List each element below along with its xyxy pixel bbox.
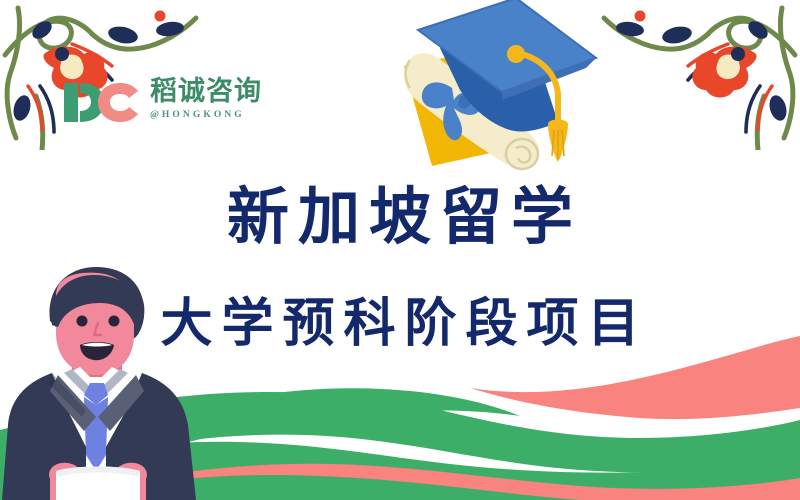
poster-canvas: 稻诚咨询 @HONGKONG 新加坡留学 大学预科阶段项目 xyxy=(0,0,800,500)
headline-container: 新加坡留学 xyxy=(0,186,800,248)
headline-primary: 新加坡留学 xyxy=(0,186,800,248)
dc-monogram-icon xyxy=(62,77,142,127)
logo-company-name-cn: 稻诚咨询 xyxy=(150,78,262,106)
floral-corner-right-icon xyxy=(600,0,800,150)
graduation-cap-icon xyxy=(398,0,603,181)
businessman-illustration xyxy=(0,265,204,500)
logo-company-location-en: @HONGKONG xyxy=(150,110,245,120)
brand-logo[interactable]: 稻诚咨询 @HONGKONG xyxy=(62,76,262,127)
floral-corner-left-icon xyxy=(0,0,200,150)
